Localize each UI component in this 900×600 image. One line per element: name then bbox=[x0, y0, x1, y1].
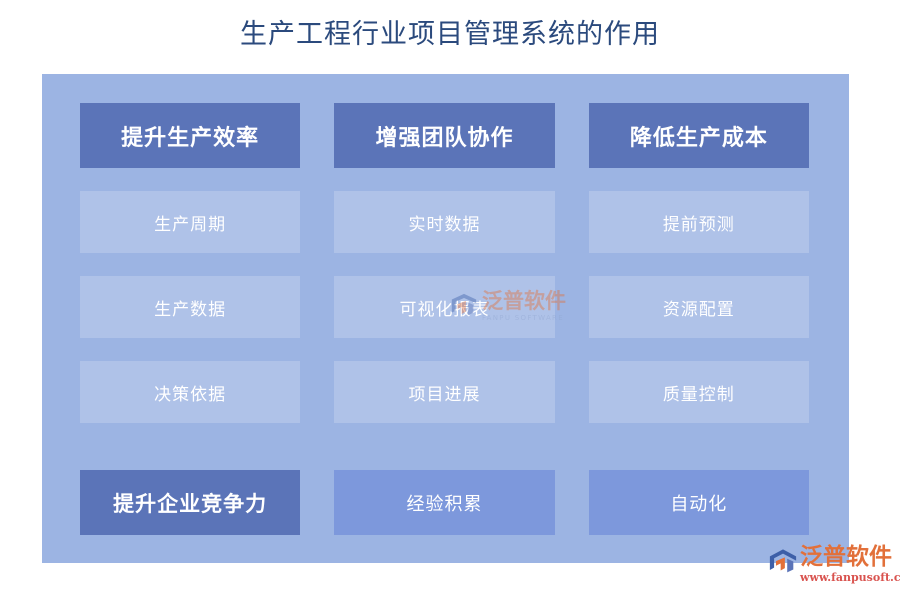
column-header-2[interactable]: 降低生产成本 bbox=[589, 103, 809, 168]
slide-canvas: 生产工程行业项目管理系统的作用 提升生产效率 增强团队协作 降低生产成本 生产周… bbox=[0, 0, 900, 600]
column-header-1[interactable]: 增强团队协作 bbox=[334, 103, 554, 168]
outcome-item-2[interactable]: 自动化 bbox=[589, 470, 809, 535]
feature-item[interactable]: 可视化报表 bbox=[334, 276, 554, 338]
feature-grid: 提升生产效率 增强团队协作 降低生产成本 生产周期 实时数据 提前预测 生产数据… bbox=[80, 103, 809, 437]
feature-item[interactable]: 实时数据 bbox=[334, 191, 554, 253]
feature-item[interactable]: 生产周期 bbox=[80, 191, 300, 253]
outcome-item-1[interactable]: 经验积累 bbox=[334, 470, 554, 535]
feature-item[interactable]: 生产数据 bbox=[80, 276, 300, 338]
feature-item[interactable]: 项目进展 bbox=[334, 361, 554, 423]
outcome-row: 提升企业竞争力 经验积累 自动化 bbox=[80, 470, 809, 535]
page-title: 生产工程行业项目管理系统的作用 bbox=[0, 17, 900, 53]
feature-item[interactable]: 决策依据 bbox=[80, 361, 300, 423]
column-header-0[interactable]: 提升生产效率 bbox=[80, 103, 300, 168]
feature-item[interactable]: 质量控制 bbox=[589, 361, 809, 423]
outcome-item-0[interactable]: 提升企业竞争力 bbox=[80, 470, 300, 535]
logo-text-block: 泛普软件 www.fanpusoft.com bbox=[800, 545, 900, 585]
feature-item[interactable]: 资源配置 bbox=[589, 276, 809, 338]
feature-item[interactable]: 提前预测 bbox=[589, 191, 809, 253]
logo-brand-cn: 泛普软件 bbox=[800, 545, 900, 569]
logo-url: www.fanpusoft.com bbox=[800, 571, 900, 585]
fanpu-logo-icon bbox=[768, 547, 798, 577]
brand-logo: 泛普软件 www.fanpusoft.com bbox=[768, 545, 898, 595]
